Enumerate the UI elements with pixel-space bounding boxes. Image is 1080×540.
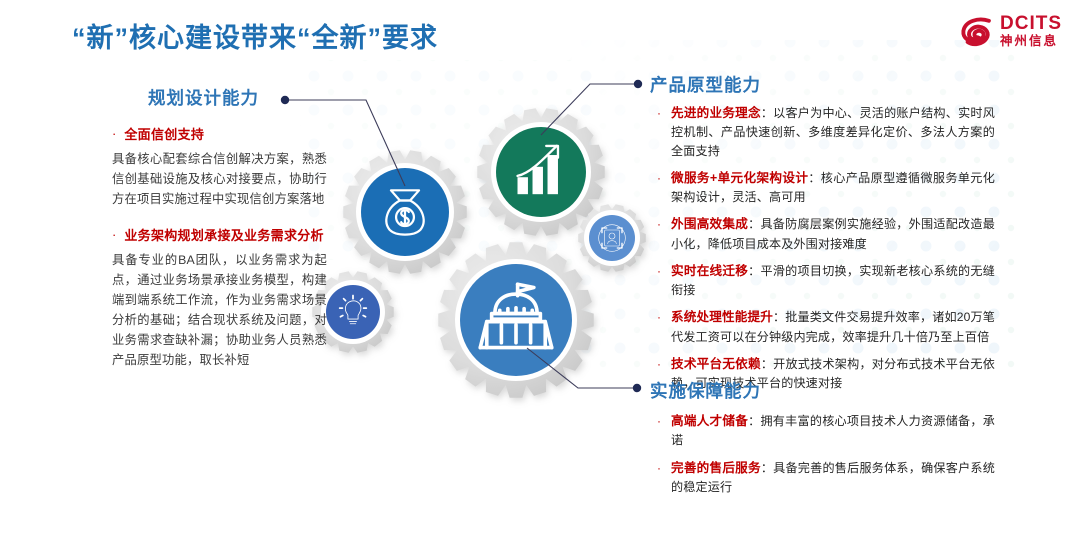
left-group-0: · 全面信创支持 具备核心配套综合信创解决方案，熟悉信创基础设施及核心对接要点，… bbox=[112, 125, 327, 210]
bullet-item: ·先进的业务理念：以客户为中心、灵活的账户结构、实时风控机制、产品快速创新、多维… bbox=[655, 104, 995, 160]
bullet-icon: · bbox=[112, 225, 116, 245]
gear-inner-ring bbox=[584, 210, 640, 266]
brand-name: DCITS bbox=[1000, 14, 1062, 33]
bullet-headword: 高端人才储备 bbox=[671, 414, 748, 428]
connector-endpoint-dot bbox=[281, 96, 289, 104]
section-heading-prototype: 产品原型能力 bbox=[650, 72, 761, 97]
connector-prototype bbox=[541, 80, 642, 135]
gear-body bbox=[578, 204, 646, 272]
bullet-icon: · bbox=[655, 412, 671, 450]
bank-gear bbox=[438, 242, 593, 397]
bullet-item: ·微服务+单元化架构设计：核心产品原型遵循微服务单元化架构设计，灵活、高可用 bbox=[655, 169, 995, 207]
section-heading-planning: 规划设计能力 bbox=[148, 85, 259, 110]
connector-delivery bbox=[527, 348, 641, 392]
gear-body bbox=[477, 108, 604, 236]
brand-name-cn: 神州信息 bbox=[1000, 35, 1062, 48]
bullet-headword: 微服务+单元化架构设计 bbox=[671, 171, 808, 185]
right-bottom-list: ·高端人才储备：拥有丰富的核心项目技术人力资源储备，承诺·完善的售后服务：具备完… bbox=[655, 412, 995, 505]
growth-chart-icon bbox=[518, 146, 558, 194]
gear-inner-ring bbox=[356, 163, 454, 261]
bullet-item: ·系统处理性能提升：批量类文件交易提升效率，诸如20万笔代发工资可以在分钟级内完… bbox=[655, 308, 995, 346]
gear-disc bbox=[589, 215, 635, 261]
bullet-item: ·完善的售后服务：具备完善的售后服务体系，确保客户系统的稳定运行 bbox=[655, 459, 995, 497]
id-badge-icon bbox=[599, 225, 626, 252]
bullet-icon: · bbox=[655, 308, 671, 346]
money-bag-icon bbox=[386, 190, 423, 234]
bullet-body: 实时在线迁移：平滑的项目切换，实现新老核心系统的无缝衔接 bbox=[671, 262, 995, 300]
bullet-headword: 完善的售后服务 bbox=[671, 461, 761, 475]
brand-logo: DCITS 神州信息 bbox=[960, 14, 1062, 48]
bank-icon bbox=[480, 284, 551, 347]
bullet-item: ·外围高效集成：具备防腐层案例实施经验，外围适配改造最小化，降低项目成本及外围对… bbox=[655, 215, 995, 253]
gear-body bbox=[438, 242, 593, 397]
left-group-1: · 业务架构规划承接及业务需求分析 具备专业的BA团队，以业务需求为起点，通过业… bbox=[112, 226, 327, 371]
connector-line bbox=[541, 84, 638, 135]
bullet-icon: · bbox=[655, 104, 671, 160]
bullet-headword: 系统处理性能提升 bbox=[671, 310, 773, 324]
gear-disc bbox=[361, 168, 449, 256]
gear-disc bbox=[496, 127, 586, 217]
left-text-column: · 全面信创支持 具备核心配套综合信创解决方案，熟悉信创基础设施及核心对接要点，… bbox=[112, 125, 327, 386]
bullet-headword: 外围高效集成 bbox=[671, 217, 748, 231]
bullet-item: ·高端人才储备：拥有丰富的核心项目技术人力资源储备，承诺 bbox=[655, 412, 995, 450]
bullet-icon: · bbox=[655, 262, 671, 300]
gear-inner-ring bbox=[491, 122, 591, 222]
bullet-icon: · bbox=[655, 169, 671, 207]
bullet-icon: · bbox=[655, 459, 671, 497]
connector-endpoint-dot bbox=[633, 384, 641, 392]
gear-body bbox=[343, 150, 466, 274]
bullet-icon: · bbox=[112, 124, 116, 144]
bullet-item: ·实时在线迁移：平滑的项目切换，实现新老核心系统的无缝衔接 bbox=[655, 262, 995, 300]
gear-disc bbox=[460, 264, 572, 376]
bullet-body: 系统处理性能提升：批量类文件交易提升效率，诸如20万笔代发工资可以在分钟级内完成… bbox=[671, 308, 995, 346]
bullet-headword: 先进的业务理念 bbox=[671, 106, 761, 120]
bullet-icon: · bbox=[655, 215, 671, 253]
left-group-title: 业务架构规划承接及业务需求分析 bbox=[124, 226, 324, 246]
right-top-list: ·先进的业务理念：以客户为中心、灵活的账户结构、实时风控机制、产品快速创新、多维… bbox=[655, 104, 995, 401]
bullet-headword: 技术平台无依赖 bbox=[671, 357, 761, 371]
left-group-title: 全面信创支持 bbox=[124, 125, 204, 145]
bullet-headword: 实时在线迁移 bbox=[671, 264, 748, 278]
left-group-text: 具备核心配套综合信创解决方案，熟悉信创基础设施及核心对接要点，协助行方在项目实施… bbox=[112, 150, 327, 210]
connector-line bbox=[527, 348, 637, 388]
dcits-swirl-icon bbox=[960, 14, 994, 48]
left-group-text: 具备专业的BA团队，以业务需求为起点，通过业务场景承接业务模型，构建端到端系统工… bbox=[112, 251, 327, 370]
section-heading-delivery: 实施保障能力 bbox=[650, 378, 761, 403]
bullet-body: 高端人才储备：拥有丰富的核心项目技术人力资源储备，承诺 bbox=[671, 412, 995, 450]
bullet-body: 先进的业务理念：以客户为中心、灵活的账户结构、实时风控机制、产品快速创新、多维度… bbox=[671, 104, 995, 160]
bullet-body: 微服务+单元化架构设计：核心产品原型遵循微服务单元化架构设计，灵活、高可用 bbox=[671, 169, 995, 207]
gear-inner-ring bbox=[455, 259, 577, 381]
connector-endpoint-dot bbox=[634, 80, 642, 88]
lightbulb-icon bbox=[340, 296, 367, 324]
page-title: “新”核心建设带来“全新”要求 bbox=[72, 16, 438, 55]
gear-disc bbox=[326, 285, 380, 339]
gear-inner-ring bbox=[321, 280, 385, 344]
bullet-body: 完善的售后服务：具备完善的售后服务体系，确保客户系统的稳定运行 bbox=[671, 459, 995, 497]
money-bag-gear bbox=[343, 150, 466, 274]
id-badge-gear bbox=[578, 204, 646, 272]
bullet-body: 外围高效集成：具备防腐层案例实施经验，外围适配改造最小化，降低项目成本及外围对接… bbox=[671, 215, 995, 253]
growth-chart-gear bbox=[477, 108, 604, 236]
